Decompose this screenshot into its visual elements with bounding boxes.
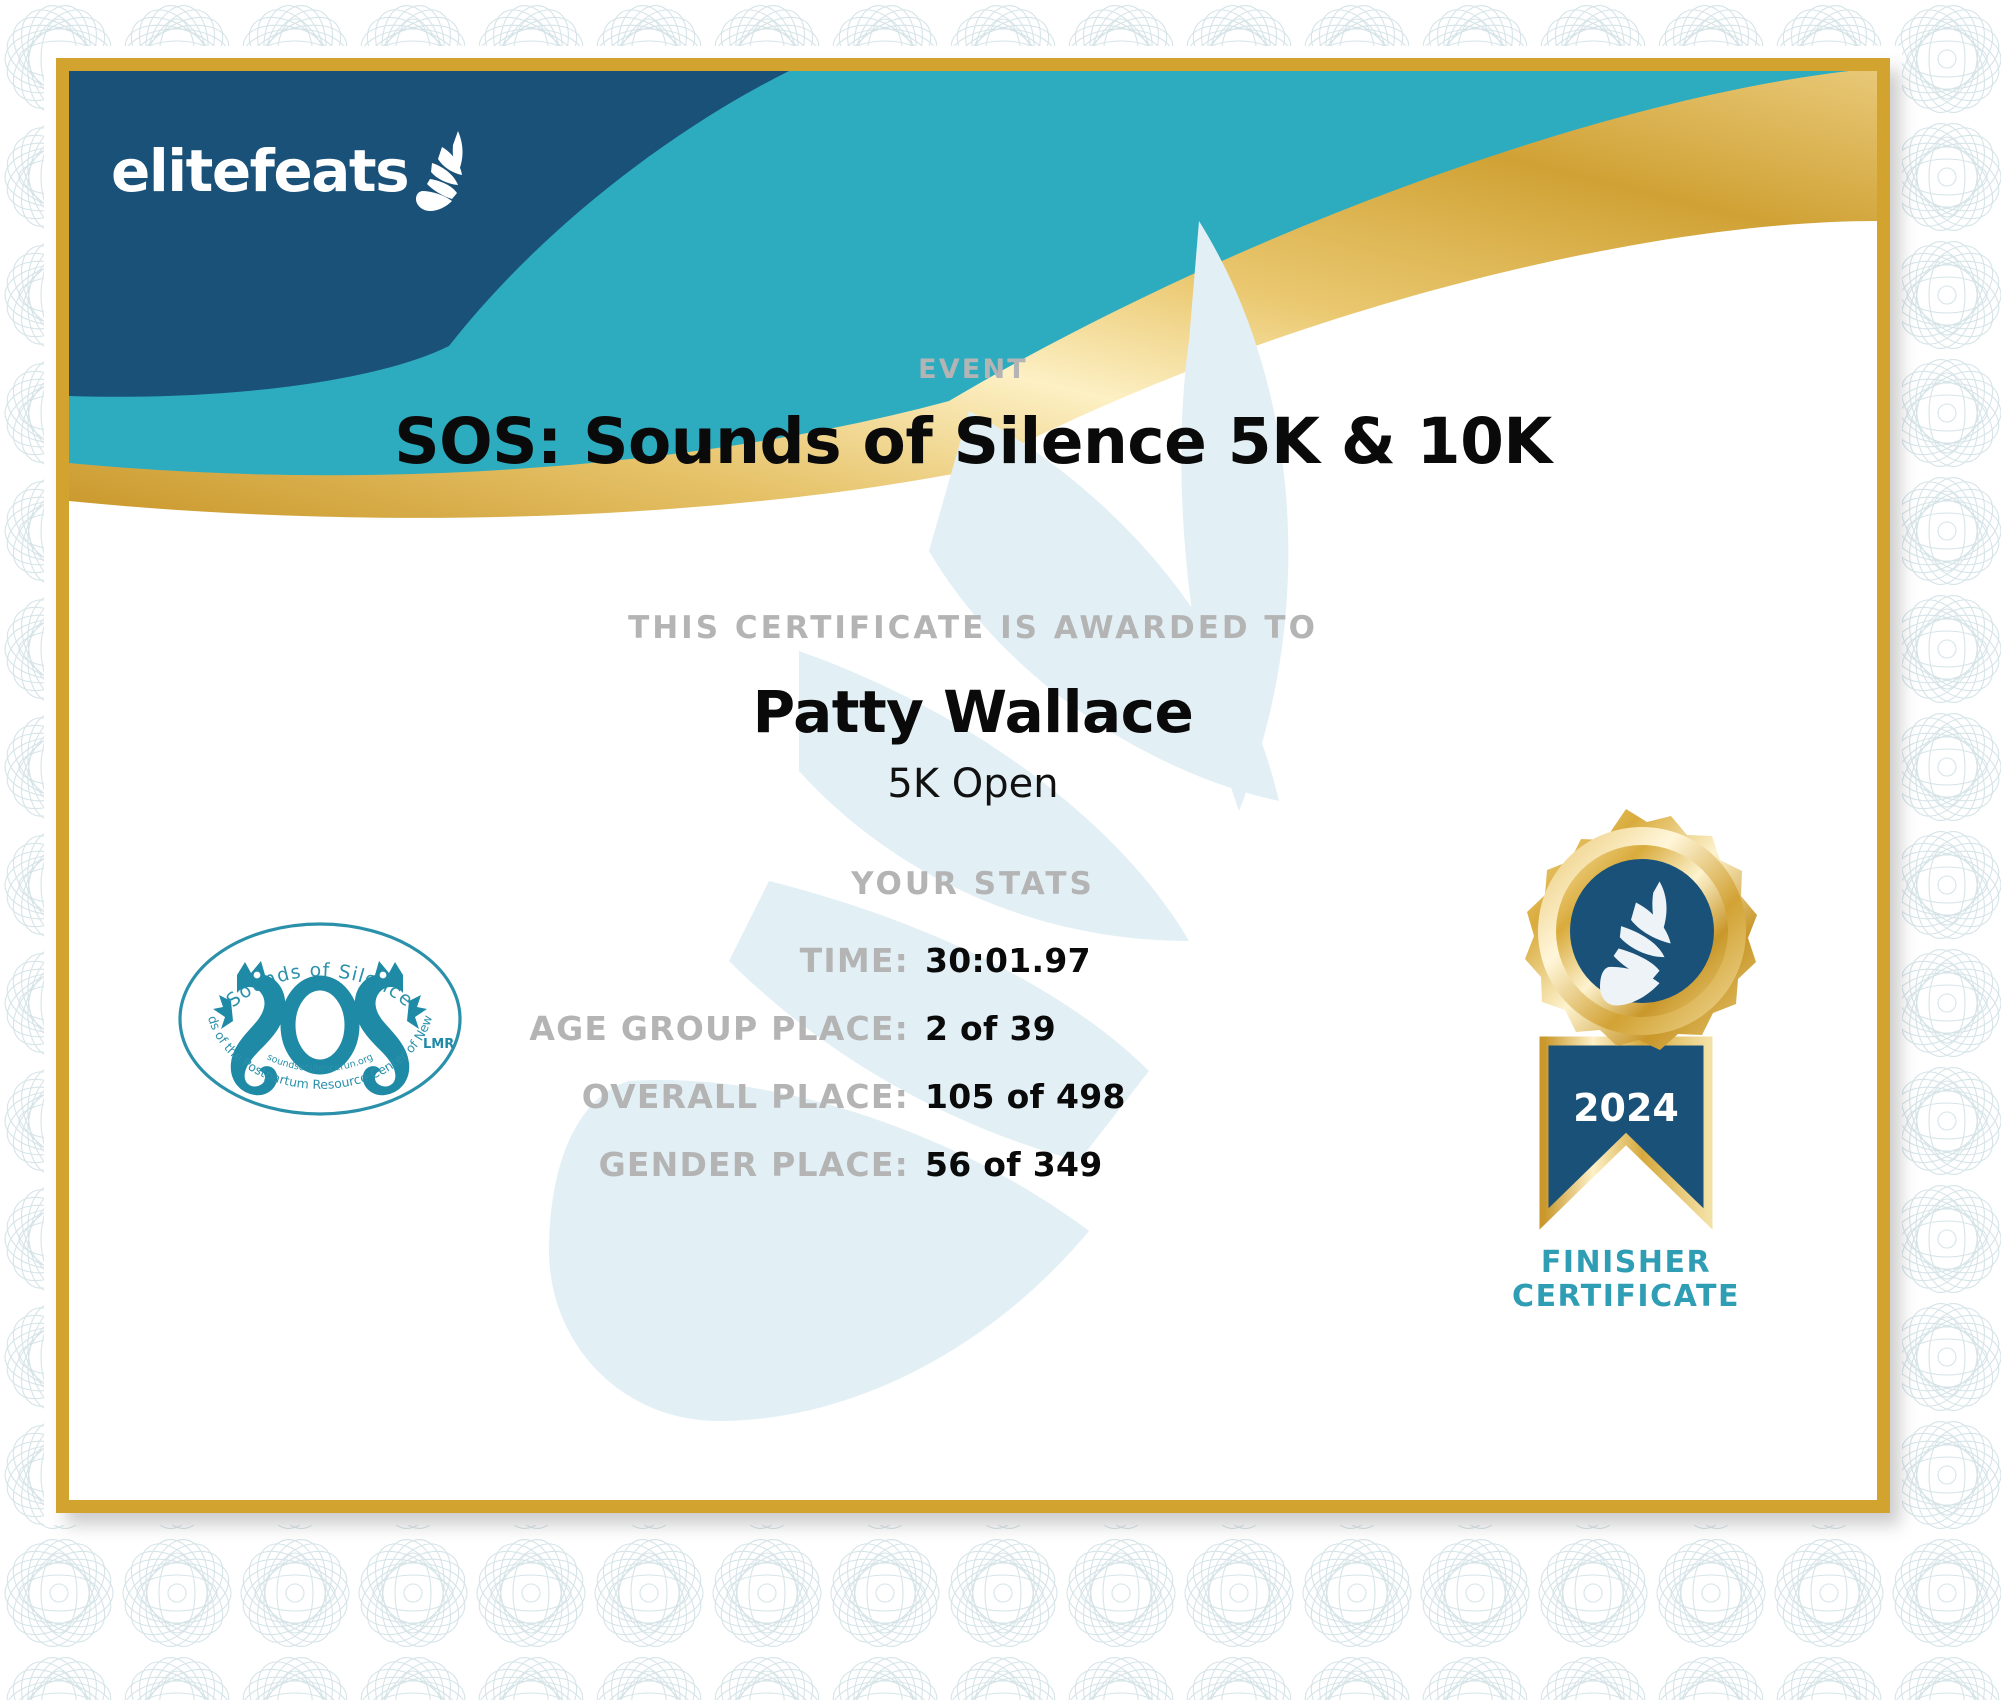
stat-row-time: TIME: 30:01.97 — [349, 941, 1249, 986]
elitefeats-logo: elitefeats — [111, 127, 484, 215]
event-title: SOS: Sounds of Silence 5K & 10K — [69, 405, 1877, 478]
certificate-frame: elitefeats EVENT SOS: Sounds of Silence … — [56, 58, 1890, 1513]
certificate-content: EVENT SOS: Sounds of Silence 5K & 10K TH… — [69, 71, 1877, 1500]
stat-value: 56 of 349 — [909, 1145, 1249, 1184]
finisher-medal: 2024 — [1461, 791, 1791, 1291]
finisher-caption-line1: FINISHER — [1441, 1246, 1811, 1280]
brand-wordmark: elitefeats — [111, 142, 408, 200]
stat-value: 105 of 498 — [909, 1077, 1249, 1116]
recipient-name: Patty Wallace — [69, 678, 1877, 746]
medal-year: 2024 — [1573, 1086, 1679, 1130]
event-label: EVENT — [69, 354, 1877, 385]
winged-foot-icon — [412, 129, 484, 215]
stat-value: 30:01.97 — [909, 941, 1249, 980]
stat-row-gender-place: GENDER PLACE: 56 of 349 — [349, 1145, 1249, 1190]
medal-rosette — [1525, 809, 1757, 1050]
stat-key: GENDER PLACE: — [349, 1145, 909, 1184]
stat-value: 2 of 39 — [909, 1009, 1249, 1048]
finisher-certificate-caption: FINISHER CERTIFICATE — [1441, 1246, 1811, 1313]
medal-ribbon — [1544, 1041, 1708, 1219]
sos-race-logo: Sounds of Silence LMR Friends of the Pos… — [175, 917, 465, 1122]
stats-table: TIME: 30:01.97 AGE GROUP PLACE: 2 of 39 … — [349, 941, 1249, 1213]
race-logo-trademark: LMR — [423, 1037, 454, 1052]
stat-row-overall-place: OVERALL PLACE: 105 of 498 — [349, 1077, 1249, 1122]
finisher-caption-line2: CERTIFICATE — [1441, 1280, 1811, 1314]
awarded-to-label: THIS CERTIFICATE IS AWARDED TO — [69, 610, 1877, 646]
stat-row-age-group-place: AGE GROUP PLACE: 2 of 39 — [349, 1009, 1249, 1054]
